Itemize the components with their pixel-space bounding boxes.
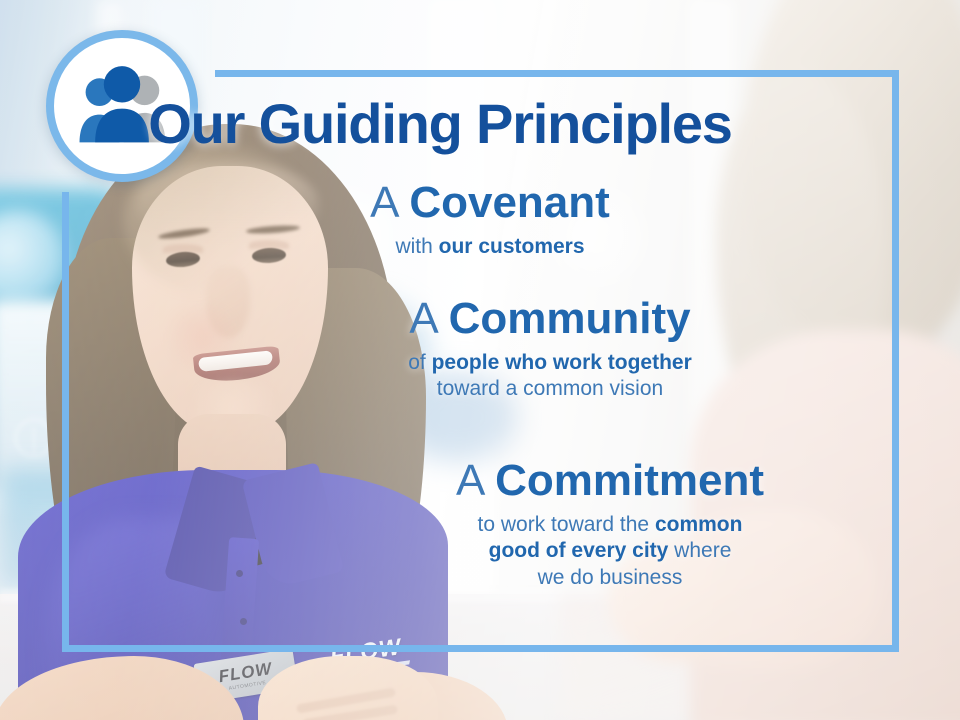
principle-covenant-keyword: Covenant: [409, 178, 609, 227]
principle-community-keyword: Community: [449, 294, 691, 343]
sub-text-plain: of: [408, 351, 431, 374]
page-title: Our Guiding Principles: [0, 96, 880, 152]
text-content: Our Guiding Principles A Covenant with o…: [0, 0, 960, 720]
principle-commitment-sub: to work toward the common good of every …: [300, 512, 920, 591]
sub-text-plain: toward a common vision: [437, 377, 663, 400]
sub-text-plain: we do business: [538, 566, 683, 589]
principle-covenant-heading: A Covenant: [210, 180, 770, 226]
principle-community-heading: A Community: [250, 296, 850, 342]
sub-text-bold: our customers: [439, 235, 585, 258]
principle-commitment-keyword: Commitment: [495, 456, 764, 505]
principle-covenant: A Covenant with our customers: [210, 180, 770, 260]
sub-text-bold: common: [655, 513, 743, 536]
principle-commitment: A Commitment to work toward the common g…: [300, 458, 920, 591]
sub-text-plain: to work toward the: [478, 513, 655, 536]
sub-text-plain: where: [668, 539, 731, 562]
principle-community: A Community of people who work together …: [250, 296, 850, 403]
principle-covenant-sub: with our customers: [210, 234, 770, 260]
sub-text-bold: good of every city: [489, 539, 669, 562]
guiding-principles-banner: FLOW AUTOMOTIVE FLOW: [0, 0, 960, 720]
principle-community-sub: of people who work together toward a com…: [250, 350, 850, 403]
sub-text-plain: with: [395, 235, 438, 258]
sub-text-bold: people who work together: [432, 351, 692, 374]
principle-covenant-article: A: [370, 178, 397, 227]
principle-commitment-article: A: [456, 456, 483, 505]
principle-commitment-heading: A Commitment: [300, 458, 920, 504]
principle-community-article: A: [409, 294, 436, 343]
